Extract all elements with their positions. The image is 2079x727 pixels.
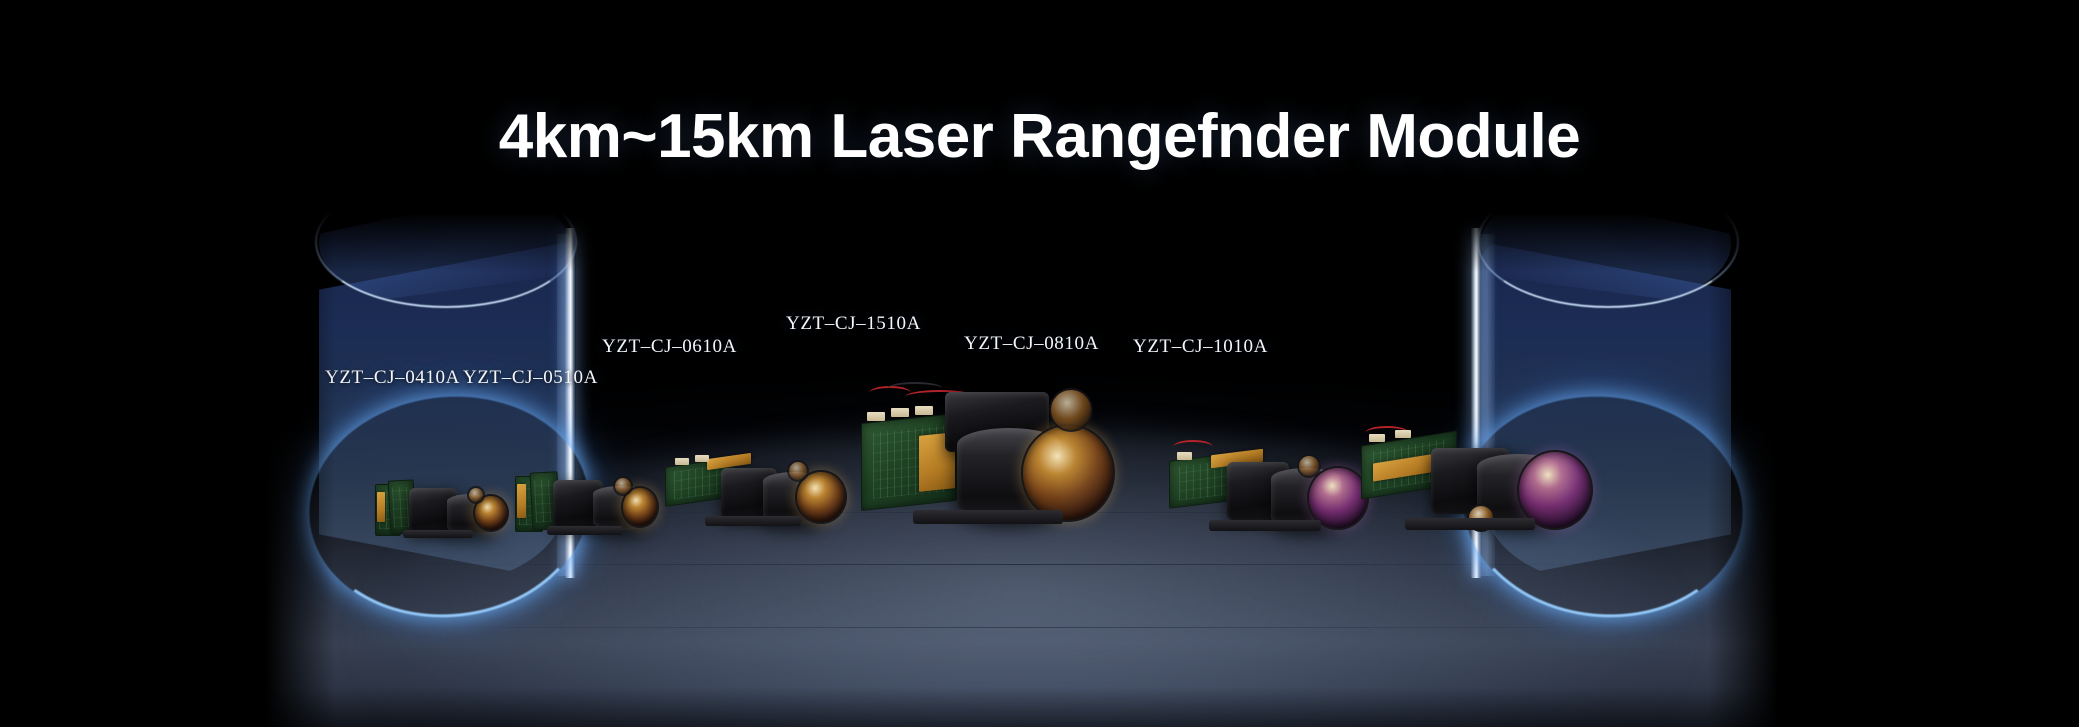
- secondary-lens: [1049, 388, 1093, 432]
- product-1010a: [1355, 408, 1595, 558]
- mount-base: [913, 510, 1063, 524]
- mount-base: [547, 526, 623, 535]
- mount-base: [1405, 518, 1535, 530]
- product-label-0410a: YZT–CJ–0410A: [325, 367, 460, 389]
- mount-base: [1209, 520, 1321, 531]
- product-label-0610a: YZT–CJ–0610A: [602, 336, 737, 358]
- secondary-lens: [787, 460, 809, 482]
- glass-rim-highlight: [1477, 212, 1739, 308]
- secondary-lens: [613, 476, 633, 496]
- glass-top-rim: [1481, 212, 1731, 308]
- wire-connector: [867, 412, 885, 421]
- wire-connector: [1177, 452, 1192, 460]
- product-0410a: [373, 470, 513, 550]
- product-0610a: [665, 434, 855, 546]
- glass-top-rim: [319, 212, 569, 308]
- gold-contact: [377, 492, 385, 522]
- wire-connector: [1369, 434, 1385, 442]
- mount-base: [705, 516, 801, 526]
- product-label-0510a: YZT–CJ–0510A: [463, 367, 598, 389]
- product-0810a: [1165, 424, 1375, 550]
- secondary-lens: [467, 486, 485, 504]
- wire-connector: [695, 455, 709, 462]
- mount-base: [403, 530, 473, 538]
- product-1510a: [853, 372, 1123, 552]
- floor-seam-line: [265, 627, 1778, 628]
- product-label-1510a: YZT–CJ–1510A: [786, 313, 921, 335]
- wire-connector: [1395, 430, 1411, 438]
- gold-contact: [517, 484, 526, 518]
- showcase-banner: 4km~15km Laser Rangefnder Module: [0, 0, 2079, 727]
- wire-connector: [675, 458, 689, 465]
- main-lens: [1021, 424, 1115, 522]
- glass-rim-highlight: [315, 212, 577, 308]
- product-0510a: [513, 464, 663, 550]
- product-label-0810a: YZT–CJ–0810A: [964, 333, 1099, 355]
- product-label-1010a: YZT–CJ–1010A: [1133, 336, 1268, 358]
- secondary-lens: [1297, 454, 1321, 478]
- wire-connector: [915, 406, 933, 415]
- page-title: 4km~15km Laser Rangefnder Module: [0, 101, 2079, 172]
- wire-connector: [891, 408, 909, 417]
- product-showcase-stage: YZT–CJ–0410A YZT–CJ–0510A YZT–CJ–0610A Y…: [265, 212, 1778, 727]
